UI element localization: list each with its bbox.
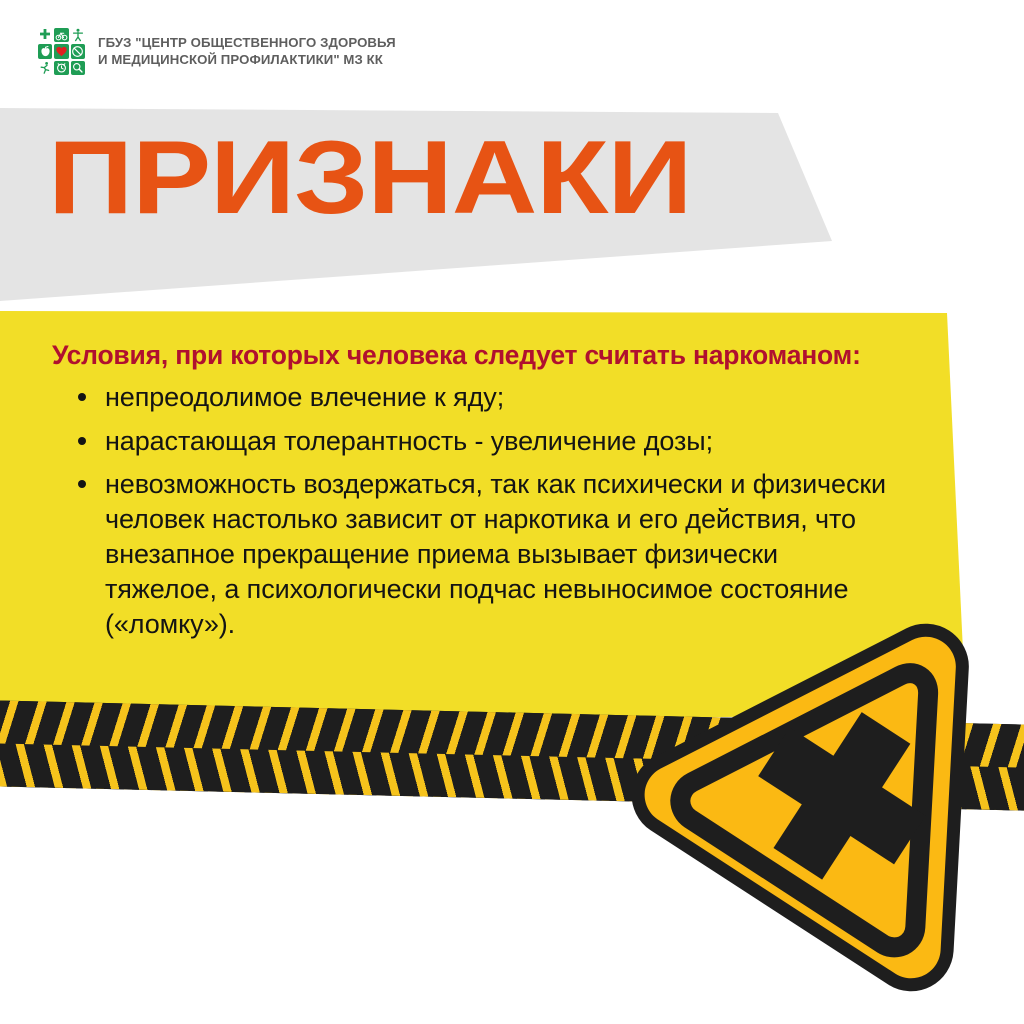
alarm-clock-icon bbox=[54, 61, 68, 75]
organization-name-line1: ГБУЗ "ЦЕНТР ОБЩЕСТВЕННОГО ЗДОРОВЬЯ bbox=[98, 35, 396, 52]
heart-icon bbox=[54, 44, 68, 58]
list-item: непреодолимое влечение к яду; bbox=[52, 380, 892, 415]
apple-icon bbox=[38, 44, 52, 58]
health-grid-logo-icon bbox=[38, 28, 85, 75]
medical-cross-icon bbox=[38, 28, 52, 42]
content-lead-text: Условия, при которых человека следует сч… bbox=[52, 340, 892, 372]
organization-header: ГБУЗ "ЦЕНТР ОБЩЕСТВЕННОГО ЗДОРОВЬЯ И МЕД… bbox=[38, 28, 396, 75]
page-title: ПРИЗНАКИ bbox=[48, 126, 691, 230]
person-exercise-icon bbox=[71, 28, 85, 42]
poster-canvas: ГБУЗ "ЦЕНТР ОБЩЕСТВЕННОГО ЗДОРОВЬЯ И МЕД… bbox=[0, 0, 1024, 1024]
list-item: нарастающая толерантность - увеличение д… bbox=[52, 424, 892, 459]
no-smoking-icon bbox=[71, 44, 85, 58]
organization-name: ГБУЗ "ЦЕНТР ОБЩЕСТВЕННОГО ЗДОРОВЬЯ И МЕД… bbox=[98, 35, 396, 69]
bicycle-icon bbox=[54, 28, 68, 42]
organization-name-line2: И МЕДИЦИНСКОЙ ПРОФИЛАКТИКИ" МЗ КК bbox=[98, 52, 396, 69]
magnifier-icon bbox=[71, 61, 85, 75]
running-person-icon bbox=[38, 61, 52, 75]
